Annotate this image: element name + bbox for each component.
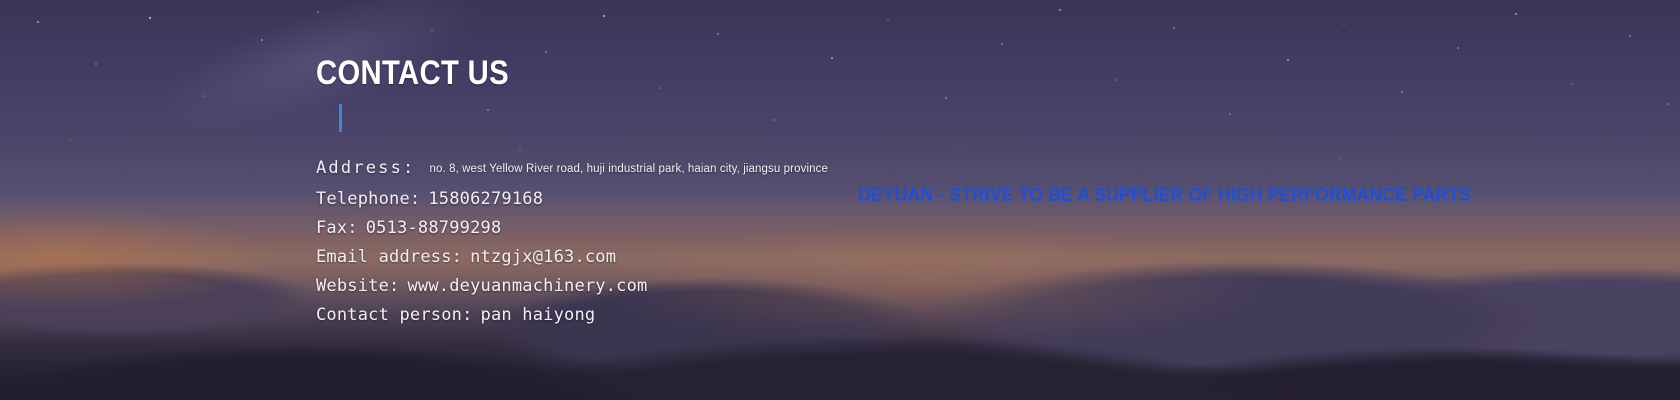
- fax-label: Fax:: [316, 214, 358, 243]
- email-value[interactable]: ntzgjx@163.com: [470, 243, 616, 272]
- contact-row-website: Website: www.deyuanmachinery.com: [316, 272, 1016, 301]
- website-value[interactable]: www.deyuanmachinery.com: [407, 272, 647, 301]
- telephone-label: Telephone:: [316, 185, 420, 214]
- contact-row-address: Address: no. 8, west Yellow River road, …: [316, 154, 1016, 185]
- address-label: Address:: [316, 154, 415, 183]
- page-title: CONTACT US: [316, 54, 918, 92]
- contact-person-value: pan haiyong: [481, 301, 596, 330]
- company-slogan: DEYUAN - STRIVE TO BE A SUPPLIER OF HIGH…: [858, 185, 1471, 207]
- title-accent-rule: [339, 104, 342, 132]
- contact-person-label: Contact person:: [316, 301, 473, 330]
- telephone-value[interactable]: 15806279168: [428, 185, 543, 214]
- fax-value: 0513-88799298: [366, 214, 502, 243]
- website-label: Website:: [316, 272, 399, 301]
- contact-row-contact-person: Contact person: pan haiyong: [316, 301, 1016, 330]
- email-label: Email address:: [316, 243, 462, 272]
- address-value: no. 8, west Yellow River road, huji indu…: [429, 155, 827, 184]
- contact-row-email: Email address: ntzgjx@163.com: [316, 243, 1016, 272]
- contact-row-fax: Fax: 0513-88799298: [316, 214, 1016, 243]
- contact-details-list: Address: no. 8, west Yellow River road, …: [316, 154, 1016, 330]
- footer-contact-banner: CONTACT US Address: no. 8, west Yellow R…: [0, 0, 1680, 400]
